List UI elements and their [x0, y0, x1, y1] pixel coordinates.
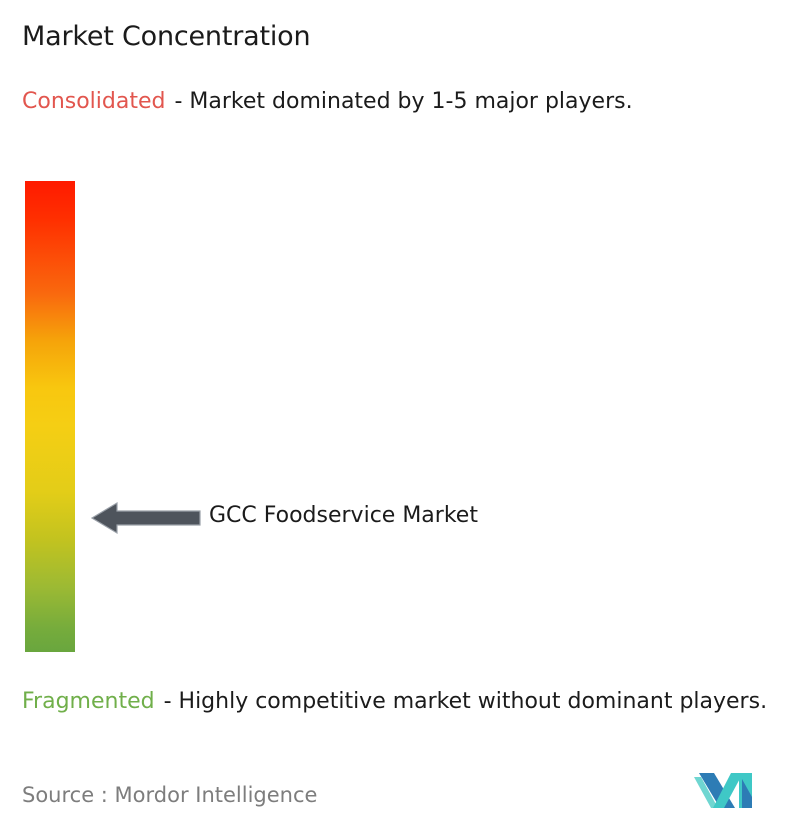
consolidated-description: - Market dominated by 1-5 major players. — [174, 89, 632, 114]
fragmented-keyword: Fragmented — [22, 689, 155, 714]
market-position-arrow — [91, 500, 201, 536]
fragmented-description: - Highly competitive market without domi… — [164, 689, 767, 714]
concentration-gradient-bar — [25, 181, 75, 652]
market-position-label: GCC Foodservice Market — [209, 503, 478, 528]
source-attribution: Source : Mordor Intelligence — [22, 783, 317, 807]
consolidated-keyword: Consolidated — [22, 89, 165, 114]
mordor-intelligence-logo — [694, 767, 760, 809]
fragmented-caption: Fragmented- Highly competitive market wi… — [22, 686, 788, 717]
page-title: Market Concentration — [22, 21, 310, 52]
chart-canvas: Market Concentration Consolidated- Marke… — [0, 0, 796, 834]
consolidated-caption: Consolidated- Market dominated by 1-5 ma… — [22, 86, 774, 117]
left-arrow-icon — [92, 503, 200, 533]
